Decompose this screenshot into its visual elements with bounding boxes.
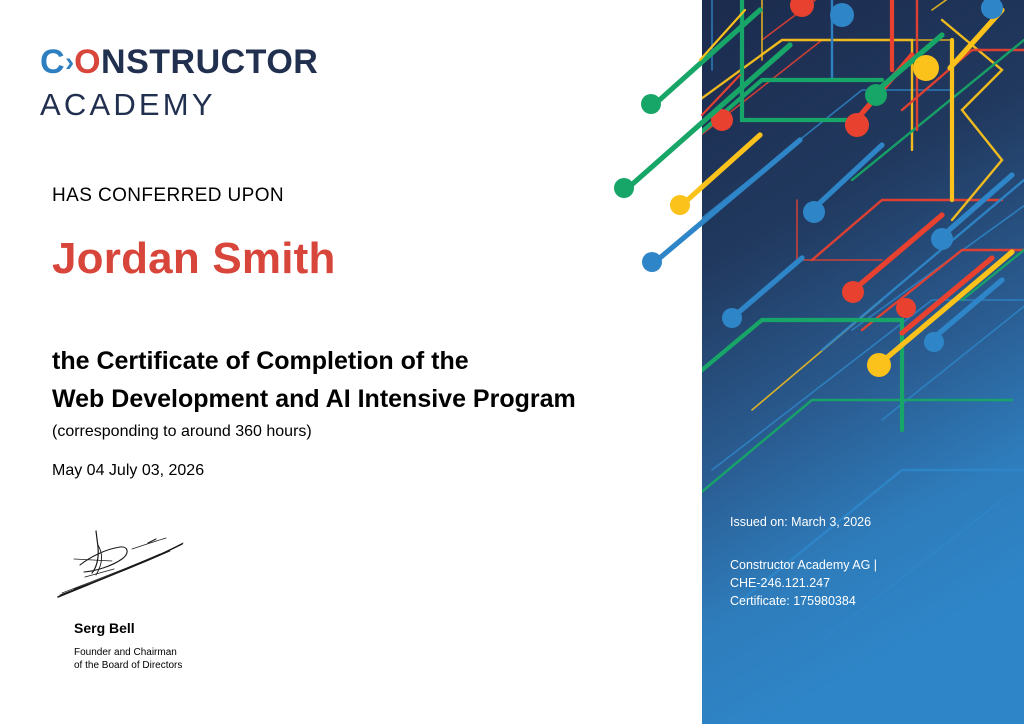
issued-on: Issued on: March 3, 2026 <box>730 513 877 531</box>
hours-note: (corresponding to around 360 hours) <box>52 423 312 441</box>
signer-title-line2: of the Board of Directors <box>74 659 222 672</box>
node-blue <box>931 228 953 250</box>
logo-letter-c: C <box>40 43 65 81</box>
panel-meta-text: Issued on: March 3, 2026 Constructor Aca… <box>730 513 877 610</box>
certificate-number: Certificate: 175980384 <box>730 592 877 610</box>
network-graphic <box>702 0 1024 724</box>
logo-letter-o: O <box>74 43 101 81</box>
signer-title-line1: Founder and Chairman <box>74 646 222 659</box>
decorative-network-panel <box>702 0 1024 724</box>
node-blue <box>722 308 742 328</box>
logo-wordmark-line1: C›ONSTRUCTOR <box>40 42 318 84</box>
registration-number: CHE-246.121.247 <box>730 574 877 592</box>
certificate-title-line1: the Certificate of Completion of the <box>52 342 576 380</box>
node-yellow <box>913 55 939 81</box>
node-blue <box>803 201 825 223</box>
node-yellow-outer <box>670 195 690 215</box>
constructor-academy-logo: C›ONSTRUCTOR ACADEMY <box>40 42 318 124</box>
node-blue <box>924 332 944 352</box>
company-line: Constructor Academy AG | <box>730 556 877 574</box>
signature-mark <box>52 525 222 610</box>
signer-name: Serg Bell <box>74 620 222 636</box>
node-green-outer <box>614 178 634 198</box>
conferred-label: HAS CONFERRED UPON <box>52 185 284 207</box>
node-red <box>845 113 869 137</box>
certificate-title-line2: Web Development and AI Intensive Program <box>52 380 576 418</box>
node-red <box>711 109 733 131</box>
logo-chevron-icon: › <box>65 47 74 77</box>
node-yellow <box>867 353 891 377</box>
program-dates: May 04 July 03, 2026 <box>52 462 204 480</box>
node-red <box>842 281 864 303</box>
node-blue <box>830 3 854 27</box>
node-green <box>865 84 887 106</box>
logo-wordmark-line2: ACADEMY <box>40 86 318 124</box>
node-green-outer <box>641 94 661 114</box>
node-blue-outer <box>642 252 662 272</box>
node-red <box>896 298 916 318</box>
signature-block: Serg Bell Founder and Chairman of the Bo… <box>52 525 222 672</box>
recipient-name: Jordan Smith <box>52 234 336 284</box>
certificate-title: the Certificate of Completion of the Web… <box>52 342 576 418</box>
signer-title: Founder and Chairman of the Board of Dir… <box>74 646 222 672</box>
certificate: C›ONSTRUCTOR ACADEMY HAS CONFERRED UPON … <box>0 0 1024 724</box>
logo-letters-rest: NSTRUCTOR <box>101 43 318 81</box>
